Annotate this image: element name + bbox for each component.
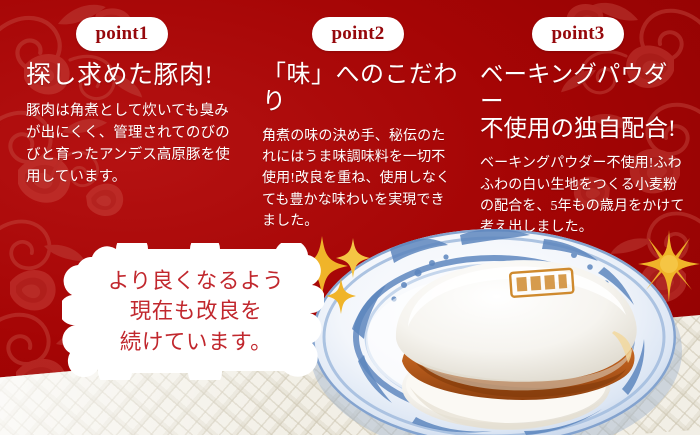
point-badge-2: point2 bbox=[312, 17, 405, 51]
improvement-callout: より良くなるよう 現在も改良を 続けています。 bbox=[62, 243, 324, 380]
point-heading-1: 探し求めた豚肉! bbox=[26, 62, 240, 91]
point-badge-3: point3 bbox=[532, 17, 625, 51]
point-body-1: 豚肉は角煮として炊いても臭みが出にくく、管理されてのびのびと育ったアンデス高原豚… bbox=[26, 100, 240, 188]
badge-wrap-3: point3 bbox=[480, 0, 690, 51]
points-row: point1 探し求めた豚肉! 豚肉は角煮として炊いても臭みが出にくく、管理され… bbox=[0, 0, 700, 225]
point-heading-3: ベーキングパウダー 不使用の独自配合! bbox=[480, 62, 690, 142]
improvement-callout-text: より良くなるよう 現在も改良を 続けています。 bbox=[62, 243, 324, 380]
point-column-1: point1 探し求めた豚肉! 豚肉は角煮として炊いても臭みが出にくく、管理され… bbox=[0, 0, 248, 225]
promo-banner: point1 探し求めた豚肉! 豚肉は角煮として炊いても臭みが出にくく、管理され… bbox=[0, 0, 700, 435]
point-column-2: point2 「味」へのこだわり 角煮の味の決め手、秘伝のたれにはうま味調味料を… bbox=[248, 0, 466, 225]
point-heading-2: 「味」へのこだわり bbox=[262, 62, 458, 117]
badge-wrap-2: point2 bbox=[262, 0, 458, 51]
point-badge-1: point1 bbox=[76, 17, 169, 51]
badge-wrap-1: point1 bbox=[26, 0, 240, 51]
product-photo bbox=[298, 211, 700, 435]
point-column-3: point3 ベーキングパウダー 不使用の独自配合! ベーキングパウダー不使用!… bbox=[466, 0, 700, 225]
